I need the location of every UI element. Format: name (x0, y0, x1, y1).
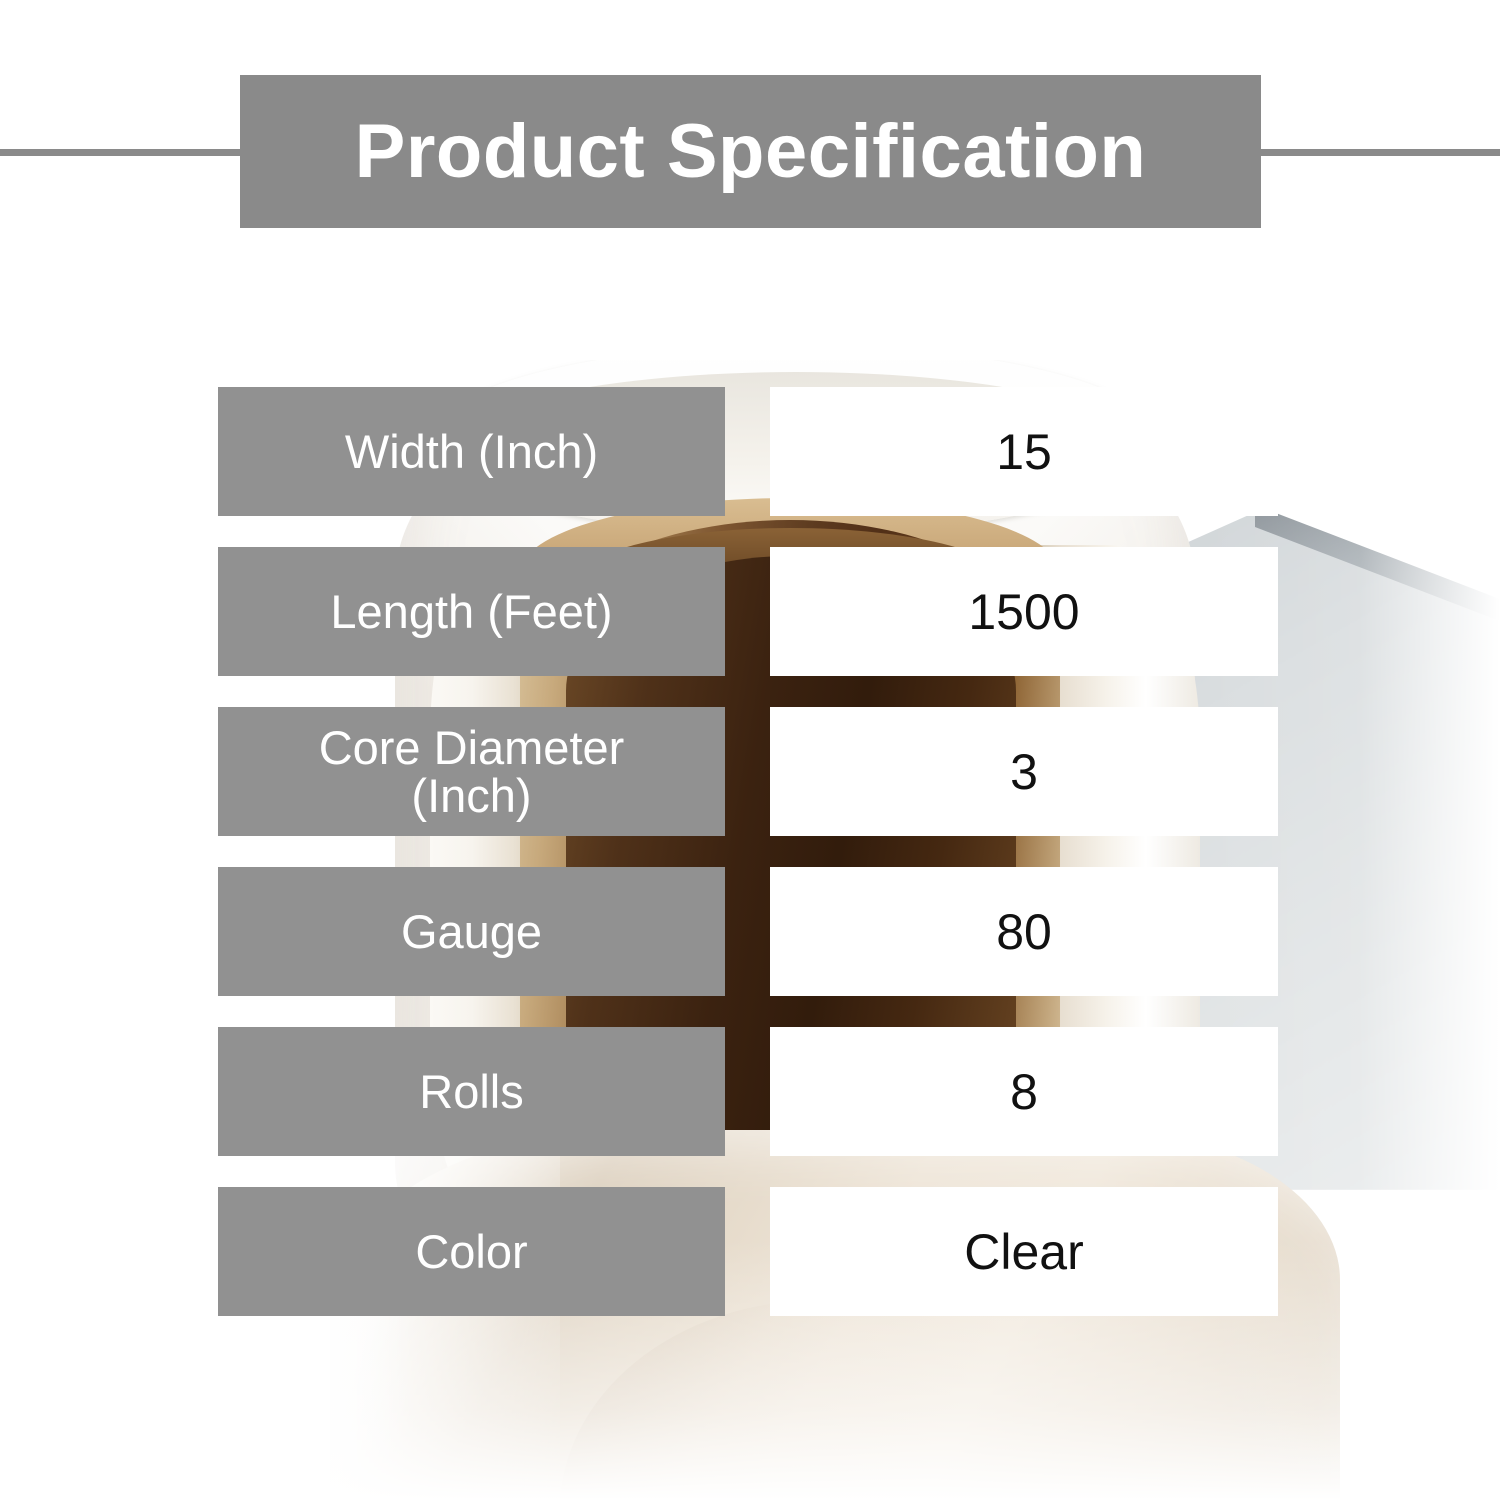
spec-label-cell-color: Color (218, 1187, 725, 1316)
page-header: Product Specification (0, 75, 1500, 228)
spec-label-text: Width (Inch) (345, 428, 598, 476)
spec-value-cell-length: 1500 (770, 547, 1278, 676)
table-row: Width (Inch) 15 (218, 387, 1278, 516)
spec-value-cell-color: Clear (770, 1187, 1278, 1316)
spec-label-text: Length (Feet) (330, 588, 612, 636)
product-specification-page: Product Specification Width (Inch) 15 Le… (0, 0, 1500, 1500)
spec-label-cell-rolls: Rolls (218, 1027, 725, 1156)
spec-label-text: Core Diameter (Inch) (319, 724, 625, 820)
spec-value-text: 8 (1010, 1067, 1038, 1117)
spec-label-cell-gauge: Gauge (218, 867, 725, 996)
table-row: Length (Feet) 1500 (218, 547, 1278, 676)
spec-value-cell-width: 15 (770, 387, 1278, 516)
spec-label-cell-core-diameter: Core Diameter (Inch) (218, 707, 725, 836)
spec-value-cell-gauge: 80 (770, 867, 1278, 996)
table-row: Rolls 8 (218, 1027, 1278, 1156)
spec-value-text: 3 (1010, 747, 1038, 797)
spec-label-text: Rolls (419, 1068, 523, 1116)
page-title: Product Specification (355, 114, 1147, 190)
spec-value-text: Clear (964, 1227, 1083, 1277)
spec-value-cell-core-diameter: 3 (770, 707, 1278, 836)
spec-label-cell-width: Width (Inch) (218, 387, 725, 516)
spec-label-text: Gauge (401, 908, 542, 956)
spec-label-cell-length: Length (Feet) (218, 547, 725, 676)
spec-label-text: Color (415, 1228, 527, 1276)
table-row: Gauge 80 (218, 867, 1278, 996)
specification-table: Width (Inch) 15 Length (Feet) 1500 Core … (218, 387, 1278, 1316)
spec-value-cell-rolls: 8 (770, 1027, 1278, 1156)
spec-value-text: 1500 (968, 587, 1079, 637)
title-plate: Product Specification (240, 75, 1261, 228)
table-row: Color Clear (218, 1187, 1278, 1316)
spec-value-text: 80 (996, 907, 1052, 957)
spec-value-text: 15 (996, 427, 1052, 477)
table-row: Core Diameter (Inch) 3 (218, 707, 1278, 836)
